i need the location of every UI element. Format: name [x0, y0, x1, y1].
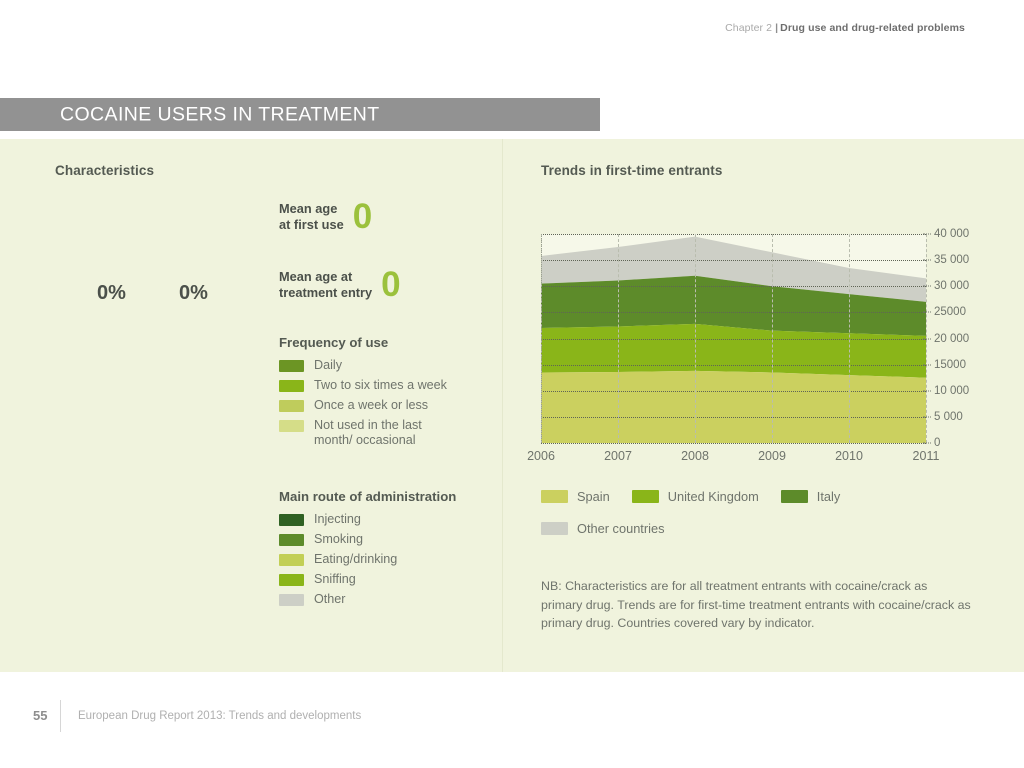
- y-axis-tick-label: 40 000: [934, 228, 969, 240]
- y-axis-tick-mark: [923, 443, 931, 444]
- gridline-vertical: [695, 234, 696, 443]
- chart-legend-swatch-icon: [541, 522, 568, 535]
- percent-stat-1: 0%: [97, 282, 126, 305]
- x-axis-tick-label: 2006: [527, 449, 555, 463]
- route-legend-item: Eating/drinking: [279, 552, 456, 567]
- frequency-legend-label: Not used in the last month/ occasional: [314, 418, 422, 448]
- area-series-spain: [541, 371, 926, 443]
- frequency-legend-label: Once a week or less: [314, 398, 428, 413]
- gridline-vertical: [772, 234, 773, 443]
- gridline-vertical: [849, 234, 850, 443]
- x-axis-tick-label: 2009: [758, 449, 786, 463]
- frequency-of-use-legend: Frequency of use DailyTwo to six times a…: [279, 335, 447, 453]
- x-axis-tick-label: 2011: [913, 449, 940, 463]
- y-axis-tick-mark: [923, 312, 931, 313]
- route-legend-title: Main route of administration: [279, 489, 456, 504]
- page-header: Chapter 2|Drug use and drug-related prob…: [725, 22, 965, 34]
- page-footer: 55 European Drug Report 2013: Trends and…: [0, 672, 1024, 768]
- mean-age-first-use-value: 0: [353, 199, 372, 234]
- route-legend-swatch-icon: [279, 534, 304, 546]
- page-number: 55: [33, 708, 47, 723]
- y-axis-tick-label: 20 000: [934, 333, 969, 345]
- chapter-subtitle: Drug use and drug-related problems: [780, 22, 965, 34]
- y-axis-tick-label: 25000: [934, 306, 966, 318]
- first-time-entrants-area-chart: 05 00010 0001500020 0002500030 00035 000…: [541, 234, 926, 443]
- chart-legend-swatch-icon: [541, 490, 568, 503]
- mean-age-treatment-entry-stat: Mean age at treatment entry 0: [279, 267, 401, 302]
- section-title-bar: COCAINE USERS IN TREATMENT: [0, 98, 600, 131]
- chart-legend-row: SpainUnited KingdomItaly: [541, 489, 941, 504]
- route-legend-swatch-icon: [279, 594, 304, 606]
- chart-legend-item: Other countries: [541, 521, 665, 536]
- x-axis-tick-label: 2008: [681, 449, 709, 463]
- x-axis-tick-label: 2007: [604, 449, 632, 463]
- y-axis-tick-mark: [923, 390, 931, 391]
- frequency-legend-label: Two to six times a week: [314, 378, 447, 393]
- y-axis-tick-mark: [923, 416, 931, 417]
- gridline-horizontal: [541, 391, 926, 392]
- x-axis-tick-label: 2010: [835, 449, 863, 463]
- gridline-horizontal: [541, 312, 926, 313]
- route-legend-swatch-icon: [279, 574, 304, 586]
- route-legend-item: Other: [279, 592, 456, 607]
- content-panel: Characteristics 0% 0% Mean age at first …: [0, 139, 1024, 672]
- y-axis-tick-label: 35 000: [934, 254, 969, 266]
- frequency-legend-swatch-icon: [279, 400, 304, 412]
- chart-legend-label: United Kingdom: [668, 489, 759, 504]
- route-legend-label: Smoking: [314, 532, 363, 547]
- gridline-horizontal: [541, 417, 926, 418]
- chart-legend-item: Italy: [781, 489, 840, 504]
- y-axis-tick-mark: [923, 234, 931, 235]
- mean-age-first-use-label: Mean age at first use: [279, 201, 344, 233]
- gridline-horizontal: [541, 286, 926, 287]
- route-legend-swatch-icon: [279, 554, 304, 566]
- trends-heading: Trends in first-time entrants: [541, 163, 722, 178]
- frequency-legend-label: Daily: [314, 358, 342, 373]
- frequency-legend-item: Two to six times a week: [279, 378, 447, 393]
- route-legend-swatch-icon: [279, 514, 304, 526]
- y-axis-tick-mark: [923, 364, 931, 365]
- y-axis-tick-label: 5 000: [934, 411, 963, 423]
- report-page: Chapter 2|Drug use and drug-related prob…: [0, 0, 1024, 768]
- y-axis-tick-mark: [923, 338, 931, 339]
- y-axis-tick-label: 15000: [934, 359, 966, 371]
- route-legend-label: Sniffing: [314, 572, 356, 587]
- gridline-horizontal: [541, 443, 926, 444]
- frequency-legend-item: Daily: [279, 358, 447, 373]
- route-legend-item: Smoking: [279, 532, 456, 547]
- chart-legend-label: Spain: [577, 489, 610, 504]
- column-divider: [502, 139, 503, 672]
- y-axis-tick-mark: [923, 260, 931, 261]
- gridline-horizontal: [541, 234, 926, 235]
- gridline-horizontal: [541, 339, 926, 340]
- gridline-horizontal: [541, 365, 926, 366]
- route-legend-label: Other: [314, 592, 346, 607]
- frequency-legend-item: Not used in the last month/ occasional: [279, 418, 447, 448]
- y-axis-tick-label: 0: [934, 437, 940, 449]
- frequency-legend-swatch-icon: [279, 420, 304, 432]
- header-separator: |: [775, 22, 778, 34]
- characteristics-heading: Characteristics: [55, 163, 154, 178]
- gridline-vertical: [618, 234, 619, 443]
- frequency-legend-swatch-icon: [279, 360, 304, 372]
- chapter-label: Chapter 2: [725, 22, 772, 34]
- y-axis-tick-label: 30 000: [934, 280, 969, 292]
- y-axis-tick-mark: [923, 286, 931, 287]
- frequency-legend-swatch-icon: [279, 380, 304, 392]
- route-legend-item: Injecting: [279, 512, 456, 527]
- route-legend-label: Eating/drinking: [314, 552, 397, 567]
- route-legend-label: Injecting: [314, 512, 361, 527]
- gridline-horizontal: [541, 260, 926, 261]
- frequency-legend-title: Frequency of use: [279, 335, 447, 350]
- mean-age-treatment-entry-value: 0: [381, 267, 400, 302]
- chart-legend-row: Other countries: [541, 521, 941, 536]
- chart-y-axis: [541, 234, 542, 443]
- percent-stat-2: 0%: [179, 282, 208, 305]
- chart-note: NB: Characteristics are for all treatmen…: [541, 577, 971, 633]
- footer-divider: [60, 700, 61, 732]
- chart-legend: SpainUnited KingdomItalyOther countries: [541, 489, 941, 553]
- route-of-administration-legend: Main route of administration InjectingSm…: [279, 489, 456, 612]
- chart-legend-item: Spain: [541, 489, 610, 504]
- y-axis-tick-label: 10 000: [934, 385, 969, 397]
- page-title: COCAINE USERS IN TREATMENT: [60, 103, 380, 126]
- chart-legend-label: Italy: [817, 489, 840, 504]
- mean-age-first-use-stat: Mean age at first use 0: [279, 199, 372, 234]
- chart-legend-swatch-icon: [781, 490, 808, 503]
- chart-legend-label: Other countries: [577, 521, 665, 536]
- chart-legend-item: United Kingdom: [632, 489, 759, 504]
- route-legend-item: Sniffing: [279, 572, 456, 587]
- chart-legend-swatch-icon: [632, 490, 659, 503]
- mean-age-treatment-entry-label: Mean age at treatment entry: [279, 269, 372, 301]
- footer-text: European Drug Report 2013: Trends and de…: [78, 710, 361, 722]
- frequency-legend-item: Once a week or less: [279, 398, 447, 413]
